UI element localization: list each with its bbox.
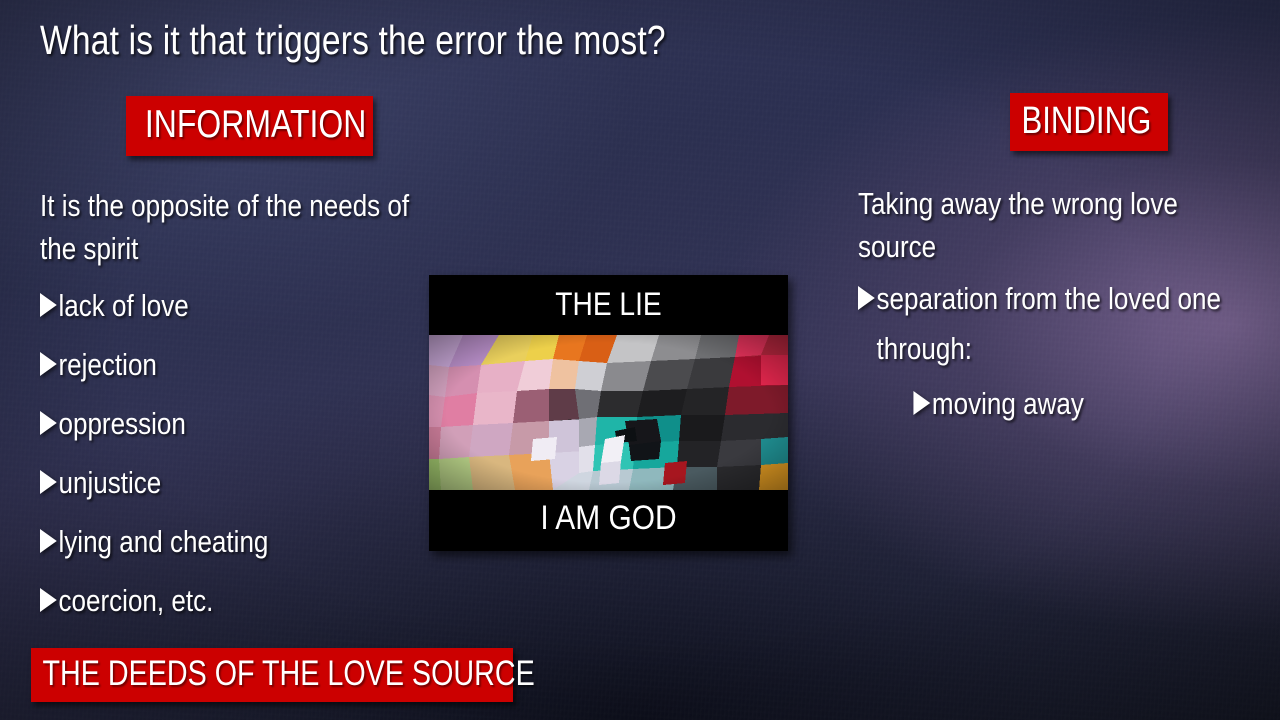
list-item: coercion, etc.: [40, 571, 440, 630]
low-poly-eye-icon: [429, 335, 788, 490]
picture-bottom-caption: I AM GOD: [451, 490, 767, 551]
badge-binding-label: BINDING: [1010, 98, 1140, 145]
triangle-bullet-icon: [40, 588, 57, 612]
triangle-bullet-icon: [40, 293, 57, 317]
list-item: moving away: [858, 374, 1258, 433]
slide-canvas: What is it that triggers the error the m…: [0, 0, 1280, 720]
list-item: oppression: [40, 394, 440, 453]
triangle-bullet-icon: [913, 391, 930, 415]
list-item-label: lack of love: [58, 288, 188, 323]
list-item-label: unjustice: [58, 465, 161, 500]
list-item: separation from the loved one through:: [858, 274, 1258, 374]
right-column: Taking away the wrong love source separa…: [858, 182, 1258, 433]
triangle-bullet-icon: [40, 470, 57, 494]
left-column-bullet-list: lack of love rejection oppression unjust…: [40, 276, 440, 630]
center-picture: THE LIE: [429, 275, 788, 551]
list-item: unjustice: [40, 453, 440, 512]
triangle-bullet-icon: [40, 411, 57, 435]
list-item-label: coercion, etc.: [58, 583, 213, 618]
list-item-label: separation from the loved one through:: [876, 281, 1221, 366]
list-item: rejection: [40, 335, 440, 394]
left-column-lead: It is the opposite of the needs of the s…: [40, 184, 440, 270]
list-item: lack of love: [40, 276, 440, 335]
list-item-label: lying and cheating: [58, 524, 268, 559]
badge-information-label: INFORMATION: [126, 101, 329, 149]
triangle-bullet-icon: [40, 529, 57, 553]
footer-banner-label: THE DEEDS OF THE LOVE SOURCE: [31, 652, 426, 696]
list-item-label: rejection: [58, 347, 156, 382]
list-item: lying and cheating: [40, 512, 440, 571]
picture-top-caption: THE LIE: [451, 275, 767, 335]
list-item-label: moving away: [932, 386, 1084, 421]
footer-banner: THE DEEDS OF THE LOVE SOURCE: [31, 648, 513, 702]
triangle-bullet-icon: [40, 352, 57, 376]
triangle-bullet-icon: [858, 286, 875, 310]
badge-information: INFORMATION: [126, 96, 373, 156]
right-column-bullet-list: separation from the loved one through: m…: [858, 274, 1258, 433]
slide-title: What is it that triggers the error the m…: [40, 18, 666, 63]
list-item-label: oppression: [58, 406, 185, 441]
badge-binding: BINDING: [1010, 93, 1168, 151]
left-column: It is the opposite of the needs of the s…: [40, 184, 440, 630]
right-column-lead: Taking away the wrong love source: [858, 182, 1258, 268]
